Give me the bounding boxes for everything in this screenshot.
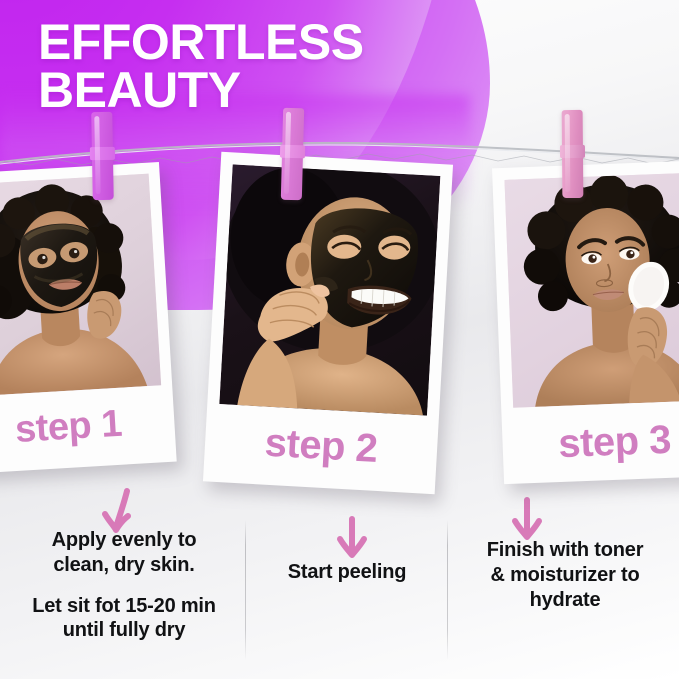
clothespin-highlight <box>565 114 571 192</box>
page-title: Effortless Beauty <box>38 18 364 114</box>
clothespin-icon-step-3 <box>562 110 584 198</box>
step-1-photo <box>0 174 161 397</box>
step-3-text-primary: Finish with toner & moisturizer to hydra… <box>456 538 674 612</box>
step-1-caption: step 1 <box>0 400 176 455</box>
column-divider-2 <box>447 520 448 660</box>
clothespin-spring-band <box>560 145 585 158</box>
step-2-text-primary: Start peeling <box>252 560 442 585</box>
clothespin-spring-band <box>280 144 305 158</box>
step-1-text-primary: Apply evenly to clean, dry skin. <box>8 528 240 578</box>
infographic-canvas: Effortless Beauty <box>0 0 679 679</box>
step-3-instructions: Finish with toner & moisturizer to hydra… <box>456 538 674 612</box>
step-1-text-secondary: Let sit fot 15-20 min until fully dry <box>8 594 240 644</box>
clothespin-spring-band <box>90 147 115 160</box>
polaroid-card-step-3[interactable]: step 3 <box>492 160 679 484</box>
clothespin-icon-step-2 <box>281 108 304 201</box>
polaroid-card-step-1[interactable]: step 1 <box>0 162 177 474</box>
clothespin-icon-step-1 <box>91 112 114 200</box>
step-3-photo <box>504 172 679 408</box>
step-2-caption: step 2 <box>204 417 438 475</box>
column-divider-1 <box>245 520 246 660</box>
step-3-caption: step 3 <box>502 416 679 470</box>
step-1-instructions: Apply evenly to clean, dry skin. Let sit… <box>8 528 240 643</box>
polaroid-card-step-2[interactable]: step 2 <box>203 152 453 494</box>
step-2-instructions: Start peeling <box>252 560 442 585</box>
step-2-photo <box>219 164 440 415</box>
